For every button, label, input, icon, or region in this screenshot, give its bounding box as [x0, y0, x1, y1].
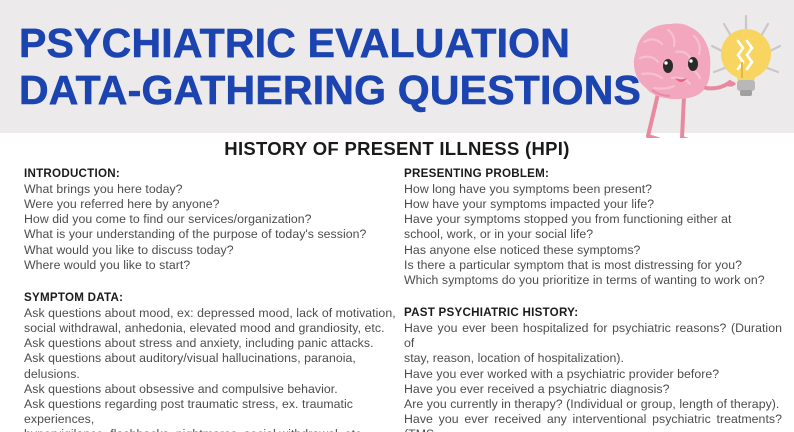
list-item: What would you like to discuss today? [24, 243, 398, 258]
section-subtitle: HISTORY OF PRESENT ILLNESS (HPI) [0, 138, 794, 160]
list-item: Ask questions about auditory/visual hall… [24, 351, 398, 381]
left-column: INTRODUCTION: What brings you here today… [24, 166, 398, 432]
brain-left-eye-glint-icon [664, 61, 667, 64]
list-item: social withdrawal, anhedonia, elevated m… [24, 321, 398, 336]
brain-legs-icon [648, 94, 684, 138]
brain-right-eye-icon [688, 57, 698, 71]
question-list-introduction: What brings you here today? Were you ref… [24, 182, 398, 273]
list-item: Ask questions regarding post traumatic s… [24, 397, 398, 427]
list-item: Have you ever received a psychiatric dia… [404, 382, 782, 397]
section-heading-introduction: INTRODUCTION: [24, 166, 398, 181]
section-heading-past-psychiatric-history: PAST PSYCHIATRIC HISTORY: [404, 305, 782, 320]
list-item: school, work, or in your social life? [404, 227, 782, 242]
list-item: Were you referred here by anyone? [24, 197, 398, 212]
list-item: Ask questions about stress and anxiety, … [24, 336, 398, 351]
document-page: PSYCHIATRIC EVALUATION DATA-GATHERING QU… [0, 0, 794, 432]
list-item: Which symptoms do you prioritize in term… [404, 273, 782, 288]
bulb-base-tip-icon [740, 90, 752, 96]
brain-arm-icon [706, 82, 730, 88]
list-item: Where would you like to start? [24, 258, 398, 273]
list-item: What is your understanding of the purpos… [24, 227, 398, 242]
list-item: stay, reason, location of hospitalizatio… [404, 351, 782, 366]
list-item: hypervigilance, flashbacks, nightmares, … [24, 427, 398, 432]
list-item: Have you ever received any interventiona… [404, 412, 782, 432]
list-item: Is there a particular symptom that is mo… [404, 258, 782, 273]
list-item: How long have you symptoms been present? [404, 182, 782, 197]
list-item: Have you ever been hospitalized for psyc… [404, 321, 782, 351]
list-item: How have your symptoms impacted your lif… [404, 197, 782, 212]
body-columns: INTRODUCTION: What brings you here today… [0, 166, 794, 432]
list-item: What brings you here today? [24, 182, 398, 197]
brain-right-eye-glint-icon [689, 59, 692, 62]
question-list-past-psychiatric-history: Have you ever been hospitalized for psyc… [404, 321, 782, 432]
question-list-presenting-problem: How long have you symptoms been present?… [404, 182, 782, 288]
title-line-1: PSYCHIATRIC EVALUATION [19, 20, 639, 67]
brain-hand-icon [727, 81, 736, 86]
bulb-glass-icon [721, 29, 771, 79]
list-item: How did you come to find our services/or… [24, 212, 398, 227]
page-title: PSYCHIATRIC EVALUATION DATA-GATHERING QU… [19, 20, 639, 114]
list-item: Are you currently in therapy? (Individua… [404, 397, 782, 412]
list-item: Ask questions about obsessive and compul… [24, 382, 398, 397]
bulb-base-icon [737, 80, 755, 91]
right-column: PRESENTING PROBLEM: How long have you sy… [404, 166, 782, 432]
section-heading-presenting-problem: PRESENTING PROBLEM: [404, 166, 782, 181]
section-heading-symptom-data: SYMPTOM DATA: [24, 290, 398, 305]
title-line-2: DATA-GATHERING QUESTIONS [19, 67, 639, 114]
brain-left-eye-icon [663, 59, 673, 73]
list-item: Have you ever worked with a psychiatric … [404, 367, 782, 382]
list-item: Has anyone else noticed these symptoms? [404, 243, 782, 258]
list-item: Ask questions about mood, ex: depressed … [24, 306, 398, 321]
list-item: Have your symptoms stopped you from func… [404, 212, 782, 227]
question-list-symptom-data: Ask questions about mood, ex: depressed … [24, 306, 398, 432]
